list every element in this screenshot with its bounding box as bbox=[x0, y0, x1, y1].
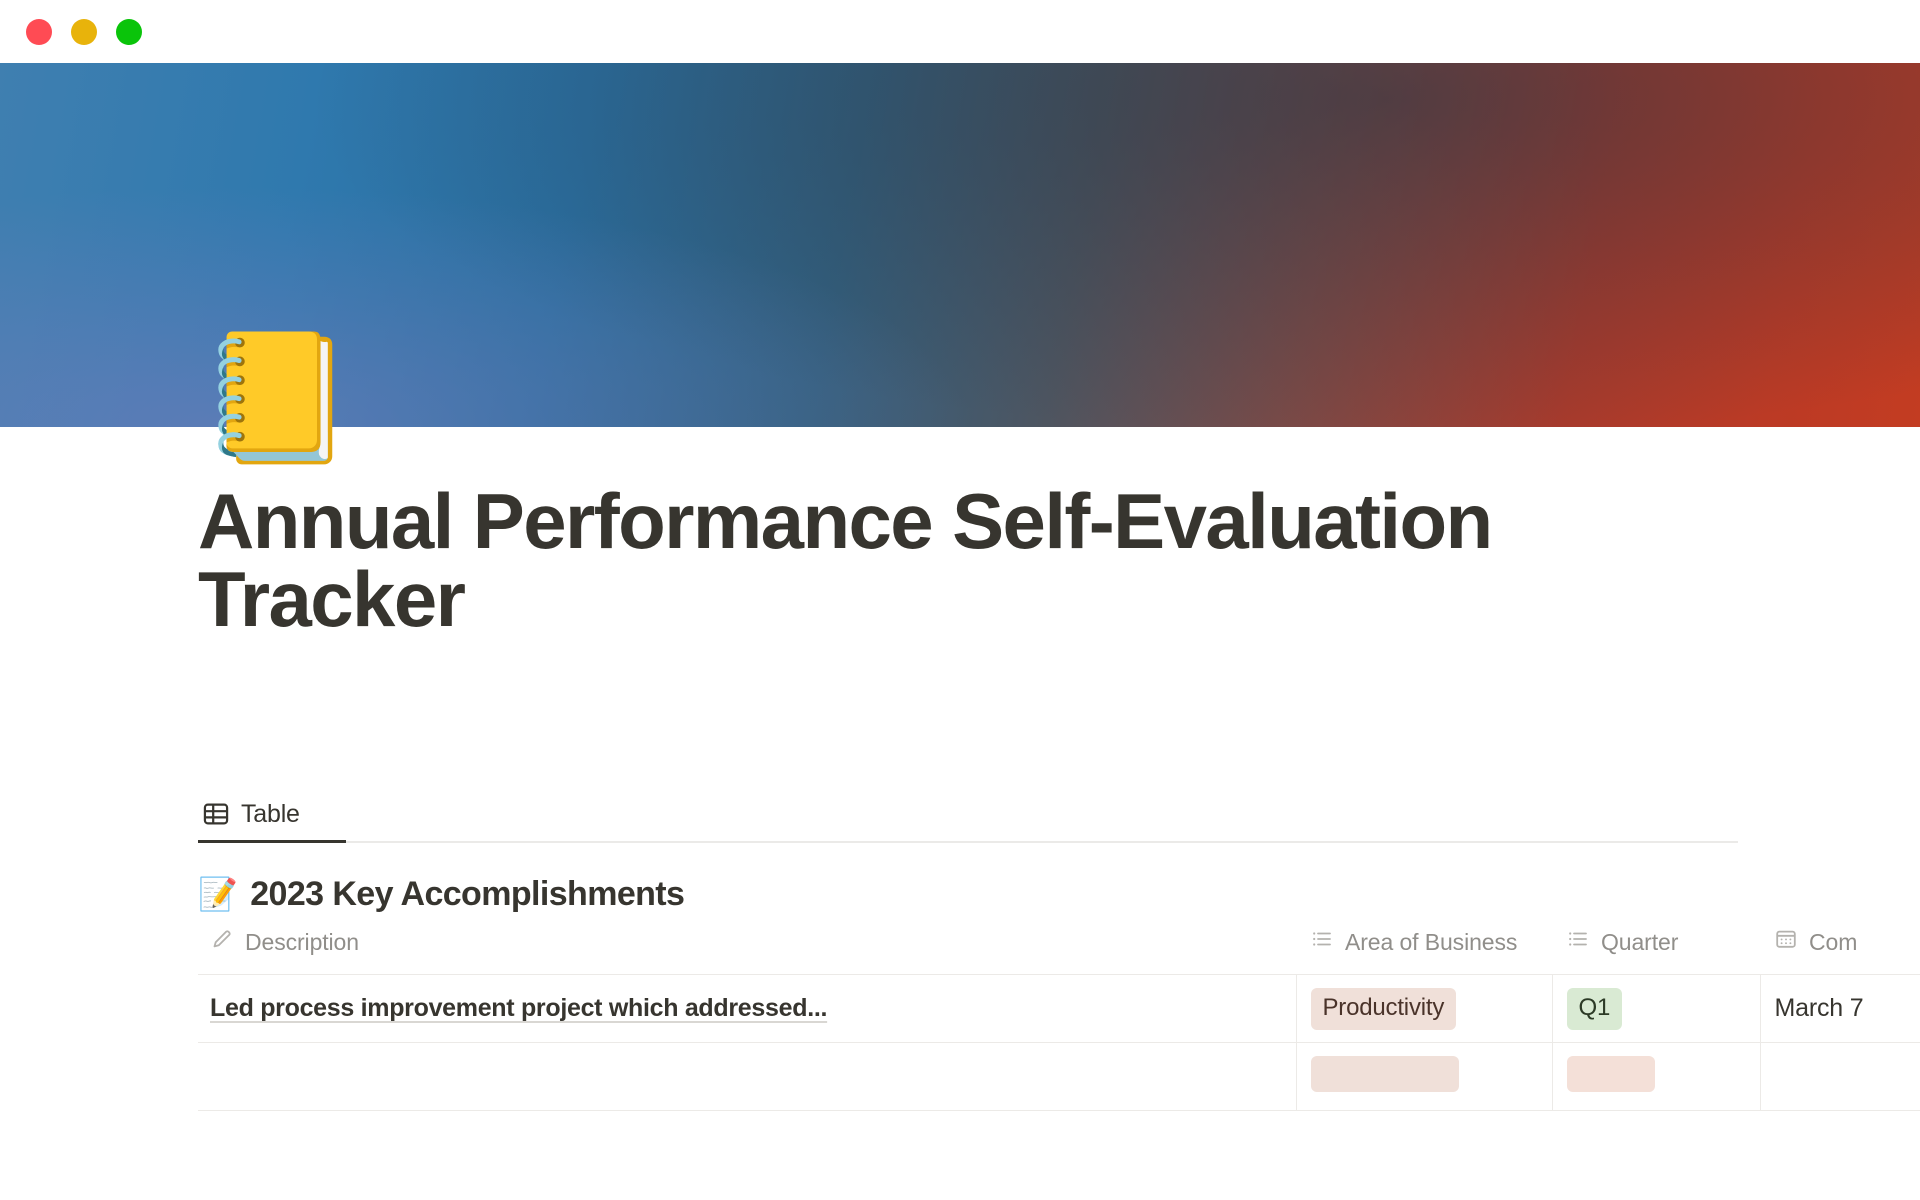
window-titlebar bbox=[0, 0, 1920, 63]
cell-quarter[interactable] bbox=[1552, 1043, 1760, 1111]
column-header-area-of-business-label: Area of Business bbox=[1345, 929, 1517, 956]
column-header-completed[interactable]: Com bbox=[1760, 927, 1920, 975]
column-header-description-label: Description bbox=[245, 929, 359, 956]
minimize-window-button[interactable] bbox=[71, 19, 97, 45]
cell-completed[interactable] bbox=[1760, 1043, 1920, 1111]
table-row[interactable]: Led process improvement project which ad… bbox=[198, 975, 1920, 1043]
row-completed-date: March 7 bbox=[1775, 994, 1864, 1022]
tag-area-of-business bbox=[1311, 1056, 1459, 1092]
maximize-window-button[interactable] bbox=[116, 19, 142, 45]
page-content: Annual Performance Self-Evaluation Track… bbox=[0, 427, 1920, 1200]
column-header-completed-label: Com bbox=[1809, 929, 1857, 956]
close-window-button[interactable] bbox=[26, 19, 52, 45]
column-header-area-of-business[interactable]: Area of Business bbox=[1296, 927, 1552, 975]
app-window: 📒 Annual Performance Self-Evaluation Tra… bbox=[0, 0, 1920, 1200]
column-header-description[interactable]: Description bbox=[198, 927, 1296, 975]
cell-quarter[interactable]: Q1 bbox=[1552, 975, 1760, 1043]
database-title: 2023 Key Accomplishments bbox=[250, 875, 684, 914]
view-tabstrip: Table bbox=[198, 787, 1738, 843]
pencil-icon bbox=[210, 927, 234, 957]
column-header-quarter-label: Quarter bbox=[1601, 929, 1678, 956]
database-block: 📝 2023 Key Accomplishments bbox=[198, 867, 1920, 1111]
tab-table[interactable]: Table bbox=[198, 787, 304, 841]
accomplishments-table: Description bbox=[198, 927, 1920, 1111]
traffic-light-group bbox=[26, 19, 142, 45]
memo-emoji-icon: 📝 bbox=[198, 878, 237, 910]
list-icon bbox=[1310, 927, 1334, 957]
table-row[interactable] bbox=[198, 1043, 1920, 1111]
column-header-quarter[interactable]: Quarter bbox=[1552, 927, 1760, 975]
tag-area-of-business: Productivity bbox=[1311, 988, 1457, 1030]
cell-description[interactable] bbox=[198, 1043, 1296, 1111]
list-icon bbox=[1566, 927, 1590, 957]
table-header-row: Description bbox=[198, 927, 1920, 975]
table-icon bbox=[202, 800, 230, 828]
calendar-icon bbox=[1774, 927, 1798, 957]
tag-quarter bbox=[1567, 1056, 1655, 1092]
cell-completed[interactable]: March 7 bbox=[1760, 975, 1920, 1043]
cell-area-of-business[interactable] bbox=[1296, 1043, 1552, 1111]
cell-description[interactable]: Led process improvement project which ad… bbox=[198, 975, 1296, 1043]
row-description-link[interactable]: Led process improvement project which ad… bbox=[210, 994, 827, 1022]
database-title-row[interactable]: 📝 2023 Key Accomplishments bbox=[198, 867, 1920, 921]
tag-quarter: Q1 bbox=[1567, 988, 1623, 1030]
tab-table-label: Table bbox=[241, 800, 300, 829]
page-title[interactable]: Annual Performance Self-Evaluation Track… bbox=[198, 482, 1618, 638]
notebook-emoji-icon[interactable]: 📒 bbox=[198, 335, 355, 461]
cell-area-of-business[interactable]: Productivity bbox=[1296, 975, 1552, 1043]
